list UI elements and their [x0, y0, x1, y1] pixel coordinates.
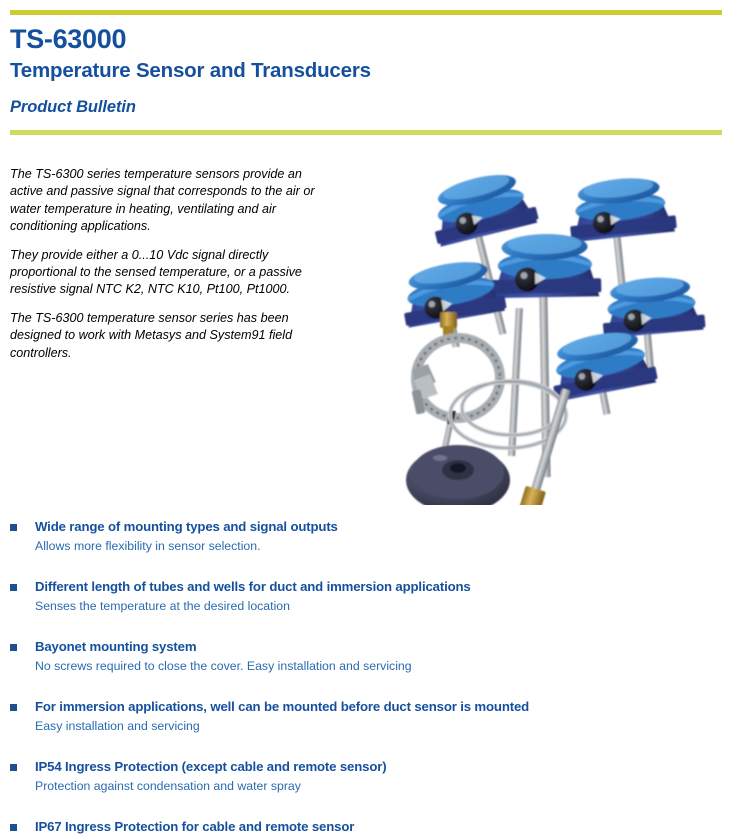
- intro-paragraph: The TS-6300 temperature sensor series ha…: [10, 310, 332, 362]
- feature-title: IP54 Ingress Protection (except cable an…: [35, 758, 710, 775]
- document-header: TS-63000 Temperature Sensor and Transduc…: [10, 24, 610, 117]
- feature-title: IP67 Ingress Protection for cable and re…: [35, 818, 710, 835]
- page-subtitle: Temperature Sensor and Transducers: [10, 59, 610, 83]
- list-item: IP54 Ingress Protection (except cable an…: [10, 758, 710, 794]
- feature-description: No screws required to close the cover. E…: [35, 658, 710, 674]
- document-type-label: Product Bulletin: [10, 97, 610, 117]
- bullet-square-icon: [10, 524, 17, 531]
- bullet-square-icon: [10, 824, 17, 831]
- list-item: IP67 Ingress Protection for cable and re…: [10, 818, 710, 835]
- list-item: Different length of tubes and wells for …: [10, 578, 710, 614]
- bullet-square-icon: [10, 704, 17, 711]
- bullet-square-icon: [10, 584, 17, 591]
- list-item: Bayonet mounting system No screws requir…: [10, 638, 710, 674]
- header-rule-bottom: [10, 130, 722, 135]
- feature-description: Senses the temperature at the desired lo…: [35, 598, 710, 614]
- feature-title: Bayonet mounting system: [35, 638, 710, 655]
- intro-paragraph: The TS-6300 series temperature sensors p…: [10, 166, 332, 236]
- feature-title: For immersion applications, well can be …: [35, 698, 710, 715]
- list-item: Wide range of mounting types and signal …: [10, 518, 710, 554]
- bullet-square-icon: [10, 764, 17, 771]
- bullet-square-icon: [10, 644, 17, 651]
- feature-list: Wide range of mounting types and signal …: [10, 518, 710, 835]
- intro-paragraph: They provide either a 0...10 Vdc signal …: [10, 247, 332, 299]
- header-rule-top: [10, 10, 722, 15]
- feature-description: Easy installation and servicing: [35, 718, 710, 734]
- intro-text-block: The TS-6300 series temperature sensors p…: [10, 166, 332, 362]
- feature-description: Allows more flexibility in sensor select…: [35, 538, 710, 554]
- feature-title: Wide range of mounting types and signal …: [35, 518, 710, 535]
- page-title: TS-63000: [10, 24, 610, 54]
- feature-description: Protection against condensation and wate…: [35, 778, 710, 794]
- feature-title: Different length of tubes and wells for …: [35, 578, 710, 595]
- list-item: For immersion applications, well can be …: [10, 698, 710, 734]
- product-photo: [392, 160, 728, 505]
